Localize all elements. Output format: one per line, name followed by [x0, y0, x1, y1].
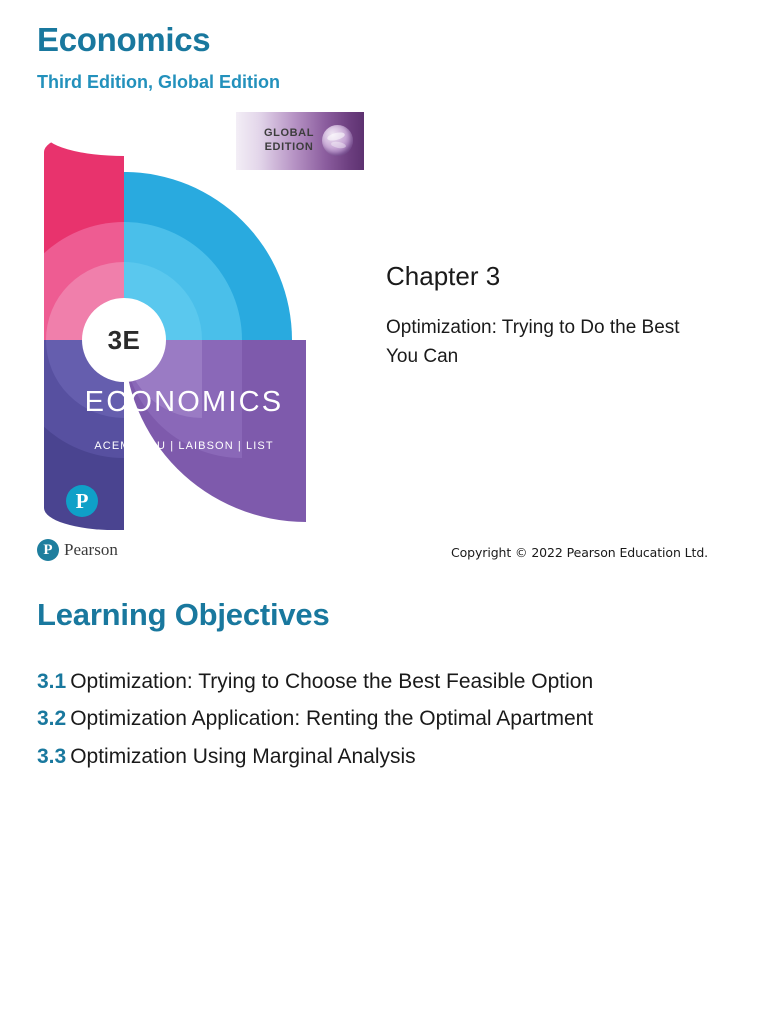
- cover-artwork: 3E ECONOMICS ACEMOGLU | LAIBSON | LIST P: [44, 130, 306, 520]
- page-title: Economics: [37, 22, 210, 58]
- learning-objectives-list: 3.1Optimization: Trying to Choose the Be…: [37, 663, 737, 775]
- cover-book-title: ECONOMICS: [84, 386, 284, 419]
- edition-badge: 3E: [82, 298, 166, 382]
- cover-authors: ACEMOGLU | LAIBSON | LIST: [74, 440, 294, 452]
- objective-number: 3.1: [37, 670, 66, 693]
- objective-text: Optimization: Trying to Choose the Best …: [70, 670, 593, 693]
- pearson-p-glyph: P: [43, 543, 52, 558]
- pearson-p-icon: P: [37, 539, 59, 561]
- copyright-notice: Copyright © 2022 Pearson Education Ltd.: [451, 545, 708, 560]
- pearson-p-glyph-cover: P: [76, 491, 89, 512]
- list-item: 3.3Optimization Using Marginal Analysis: [37, 738, 737, 775]
- chapter-number: Chapter 3: [386, 261, 500, 292]
- pearson-logo-icon-cover: P: [66, 485, 98, 517]
- list-item: 3.2Optimization Application: Renting the…: [37, 700, 737, 737]
- learning-objectives-heading: Learning Objectives: [37, 597, 330, 633]
- objective-text: Optimization Using Marginal Analysis: [70, 745, 415, 768]
- objective-number: 3.2: [37, 707, 66, 730]
- book-edition-subtitle: Third Edition, Global Edition: [37, 72, 280, 94]
- list-item: 3.1Optimization: Trying to Choose the Be…: [37, 663, 737, 700]
- pearson-wordmark: Pearson: [64, 540, 118, 560]
- book-cover-image: GLOBAL EDITION 3E ECONOMICS ACEMOGLU | L…: [44, 112, 306, 520]
- chapter-subtitle: Optimization: Trying to Do the Best You …: [386, 314, 706, 371]
- edition-badge-label: 3E: [108, 325, 141, 356]
- pearson-logo: P Pearson: [37, 539, 118, 561]
- objective-text: Optimization Application: Renting the Op…: [70, 707, 593, 730]
- globe-icon: [322, 125, 353, 156]
- objective-number: 3.3: [37, 745, 66, 768]
